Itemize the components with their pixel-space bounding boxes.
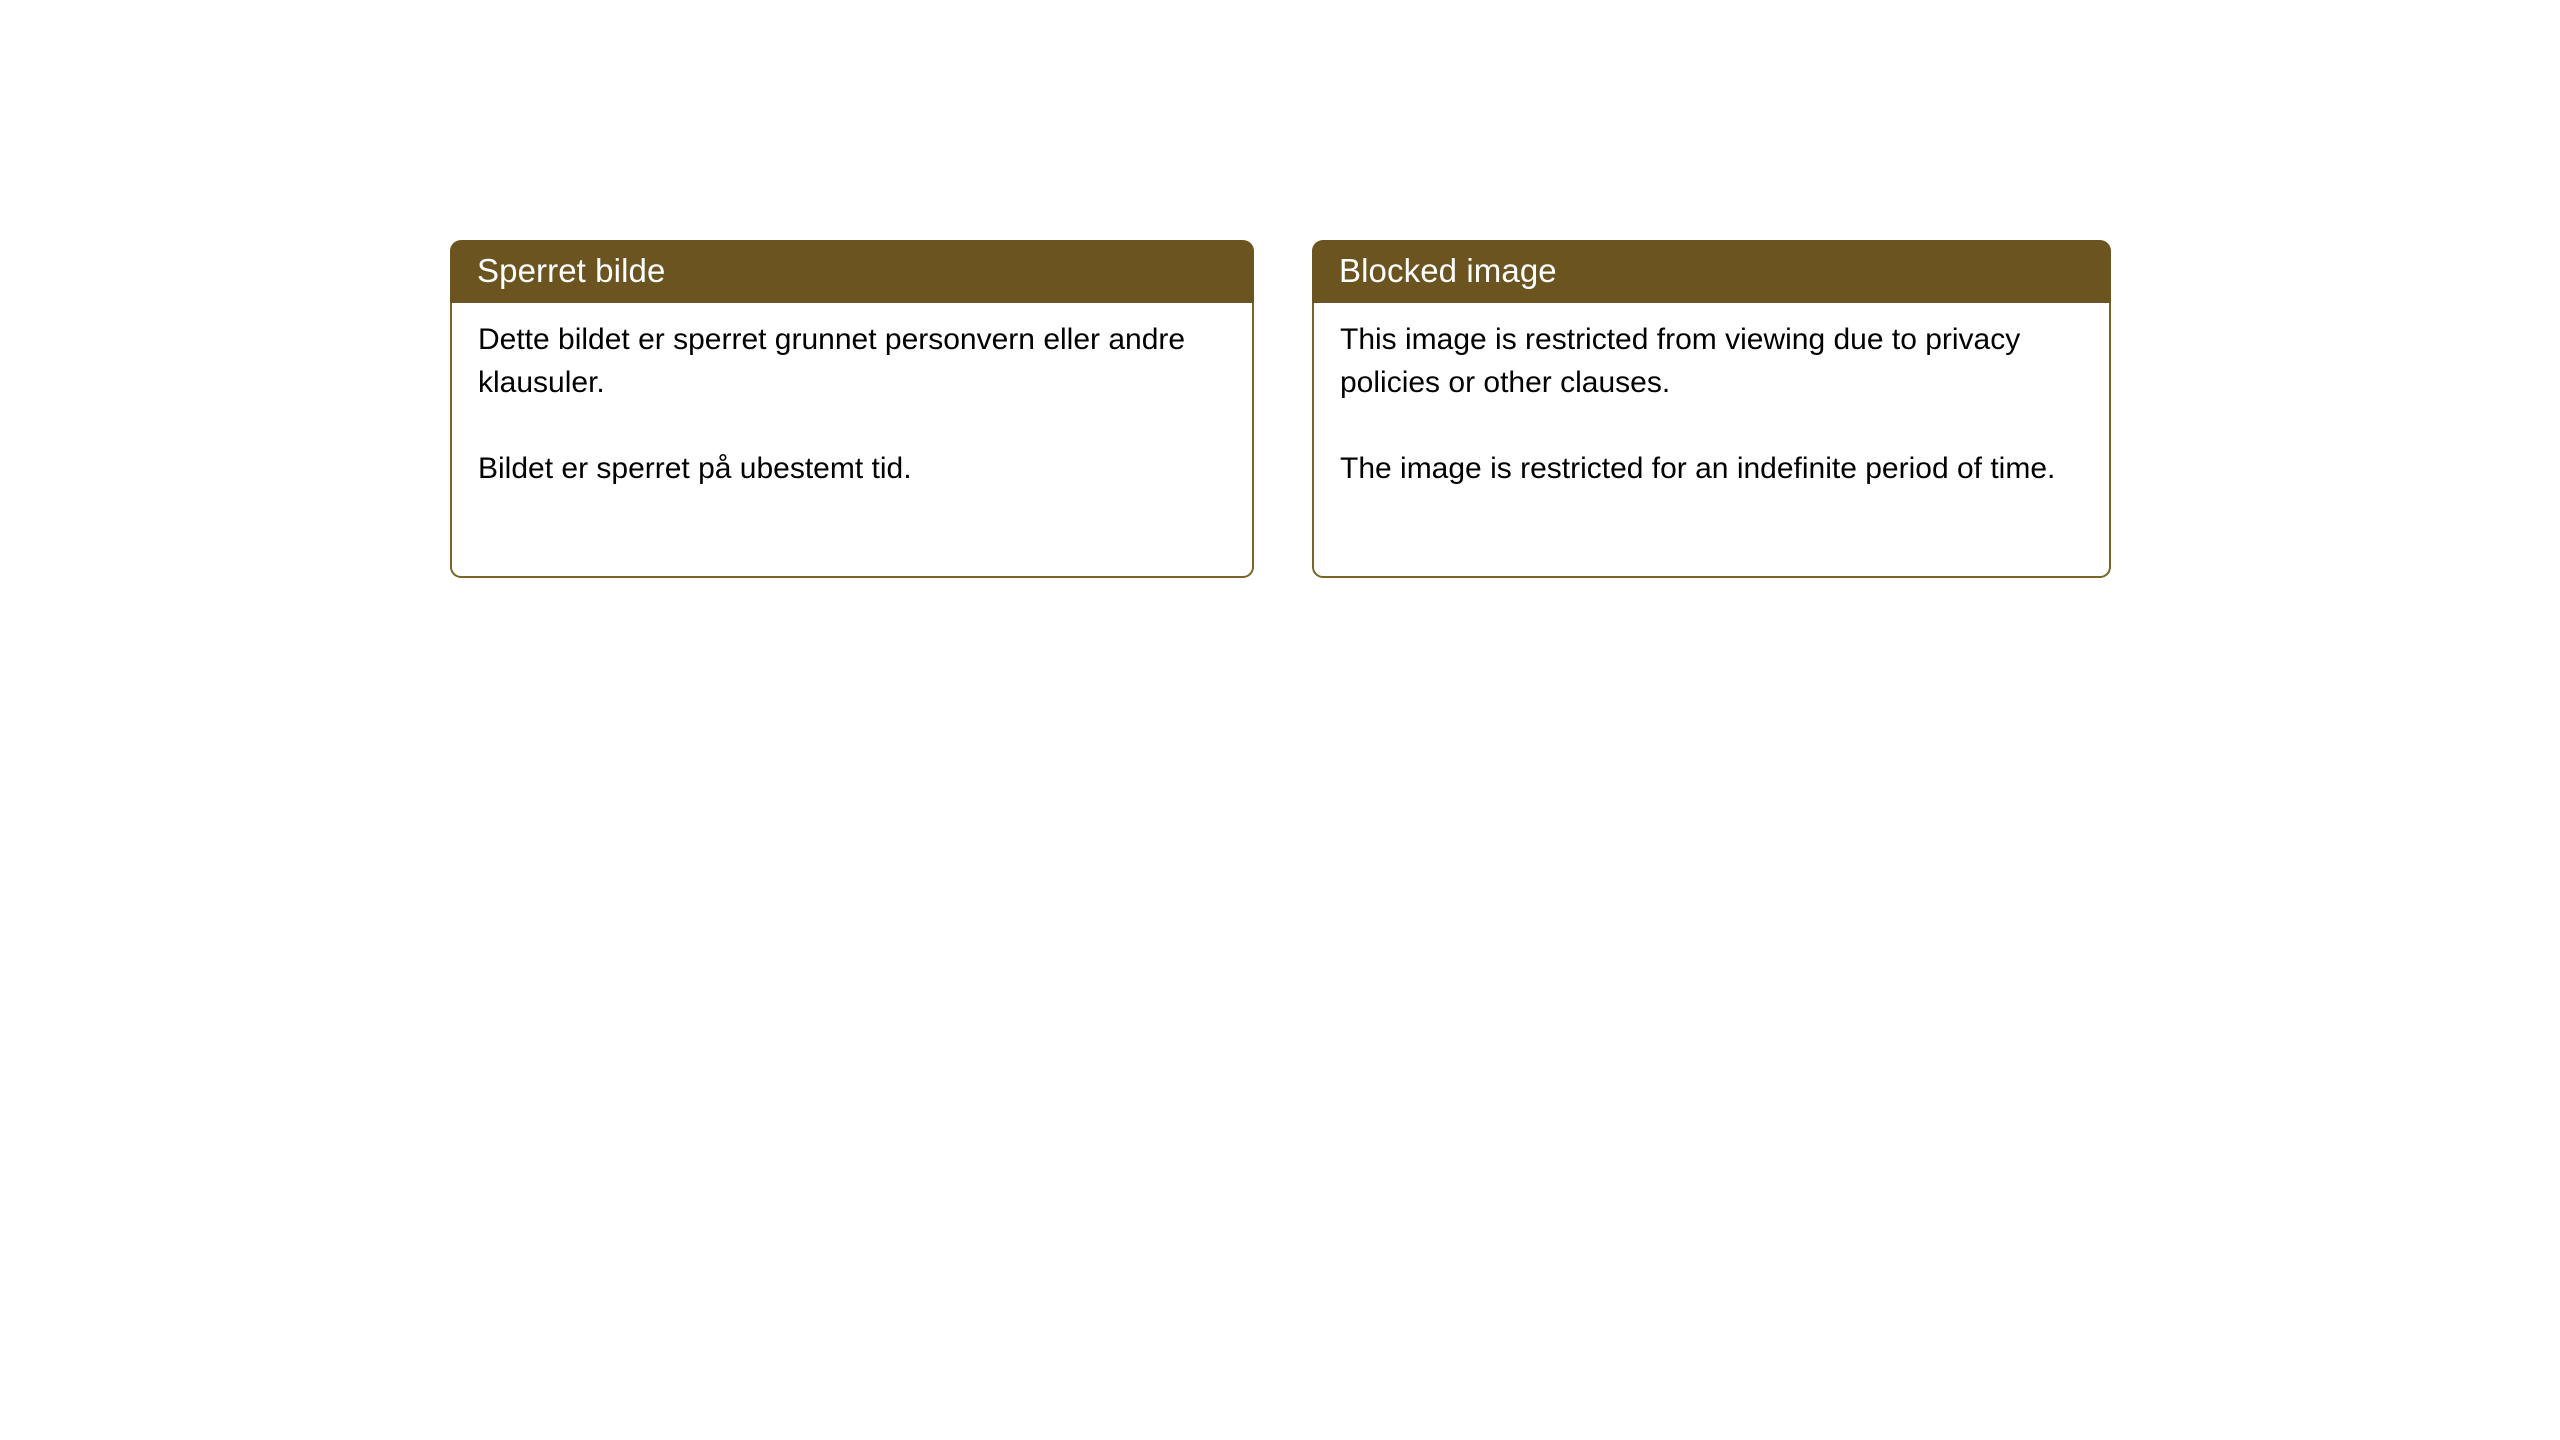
card-title-english: Blocked image — [1339, 254, 1557, 287]
notice-paragraph-secondary-norwegian: Bildet er sperret på ubestemt tid. — [478, 447, 1230, 490]
blocked-image-notice-card-english: Blocked image This image is restricted f… — [1312, 240, 2111, 578]
notice-paragraph-primary-norwegian: Dette bildet er sperret grunnet personve… — [478, 318, 1230, 404]
blocked-image-notice-card-norwegian: Sperret bilde Dette bildet er sperret gr… — [450, 240, 1254, 578]
notice-paragraph-primary-english: This image is restricted from viewing du… — [1340, 318, 2087, 404]
notice-paragraph-secondary-english: The image is restricted for an indefinit… — [1340, 447, 2087, 490]
card-header-norwegian: Sperret bilde — [450, 240, 1254, 303]
card-body-english: This image is restricted from viewing du… — [1312, 303, 2111, 578]
card-title-norwegian: Sperret bilde — [477, 254, 665, 287]
card-header-english: Blocked image — [1312, 240, 2111, 303]
page-canvas: Sperret bilde Dette bildet er sperret gr… — [0, 0, 2560, 1440]
card-body-norwegian: Dette bildet er sperret grunnet personve… — [450, 303, 1254, 578]
